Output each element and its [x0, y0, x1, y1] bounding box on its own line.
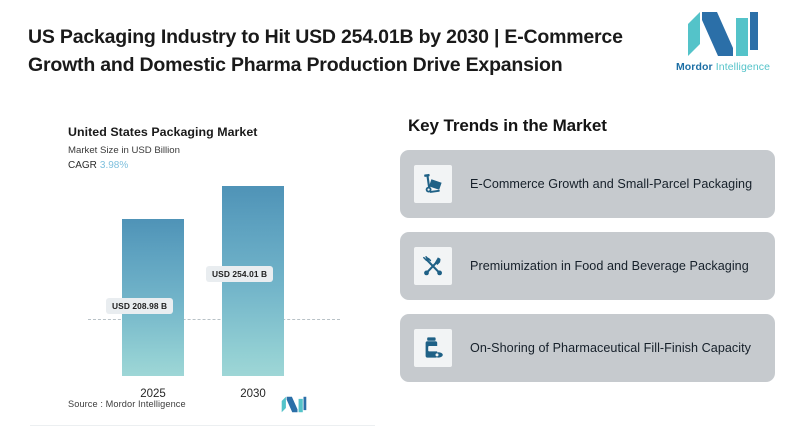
page-title: US Packaging Industry to Hit USD 254.01B… — [28, 24, 648, 79]
chart-title: United States Packaging Market — [68, 125, 257, 139]
key-trends-panel: Key Trends in the Market E-Commerce Grow… — [400, 108, 775, 428]
brand-word-secondary: Intelligence — [716, 61, 770, 73]
brand-logo: Mordor Intelligence — [664, 10, 782, 82]
market-size-chart-panel: United States Packaging Market Market Si… — [30, 108, 375, 426]
bar-value-label-2025: USD 208.98 B — [106, 298, 173, 314]
trend-label-pharma-onshoring: On-Shoring of Pharmaceutical Fill-Finish… — [470, 339, 751, 357]
trend-card-premiumization[interactable]: Premiumization in Food and Beverage Pack… — [400, 232, 775, 300]
medicine-bottle-icon — [414, 329, 452, 367]
trend-card-ecommerce[interactable]: E-Commerce Growth and Small-Parcel Packa… — [400, 150, 775, 218]
chart-source-logo-icon — [281, 396, 307, 413]
trend-label-premiumization: Premiumization in Food and Beverage Pack… — [470, 257, 749, 275]
trend-label-ecommerce: E-Commerce Growth and Small-Parcel Packa… — [470, 175, 752, 193]
chart-subtitle: Market Size in USD Billion — [68, 145, 180, 156]
chart-source-text: Source : Mordor Intelligence — [68, 399, 186, 409]
brand-wordmark: Mordor Intelligence — [676, 61, 770, 73]
mordor-intelligence-logo-icon — [686, 10, 760, 58]
fork-knife-icon — [414, 247, 452, 285]
cagr-label: CAGR — [68, 160, 97, 171]
x-axis-label-2030: 2030 — [222, 388, 284, 400]
cagr-value: 3.98% — [100, 160, 128, 171]
trend-card-pharma-onshoring[interactable]: On-Shoring of Pharmaceutical Fill-Finish… — [400, 314, 775, 382]
hand-truck-icon — [414, 165, 452, 203]
brand-word-primary: Mordor — [676, 61, 713, 73]
chart-cagr: CAGR3.98% — [68, 160, 128, 171]
chart-plot-area: USD 208.98 B USD 254.01 B 2025 2030 — [52, 186, 352, 386]
bar-value-label-2030: USD 254.01 B — [206, 266, 273, 282]
key-trends-heading: Key Trends in the Market — [408, 116, 775, 136]
